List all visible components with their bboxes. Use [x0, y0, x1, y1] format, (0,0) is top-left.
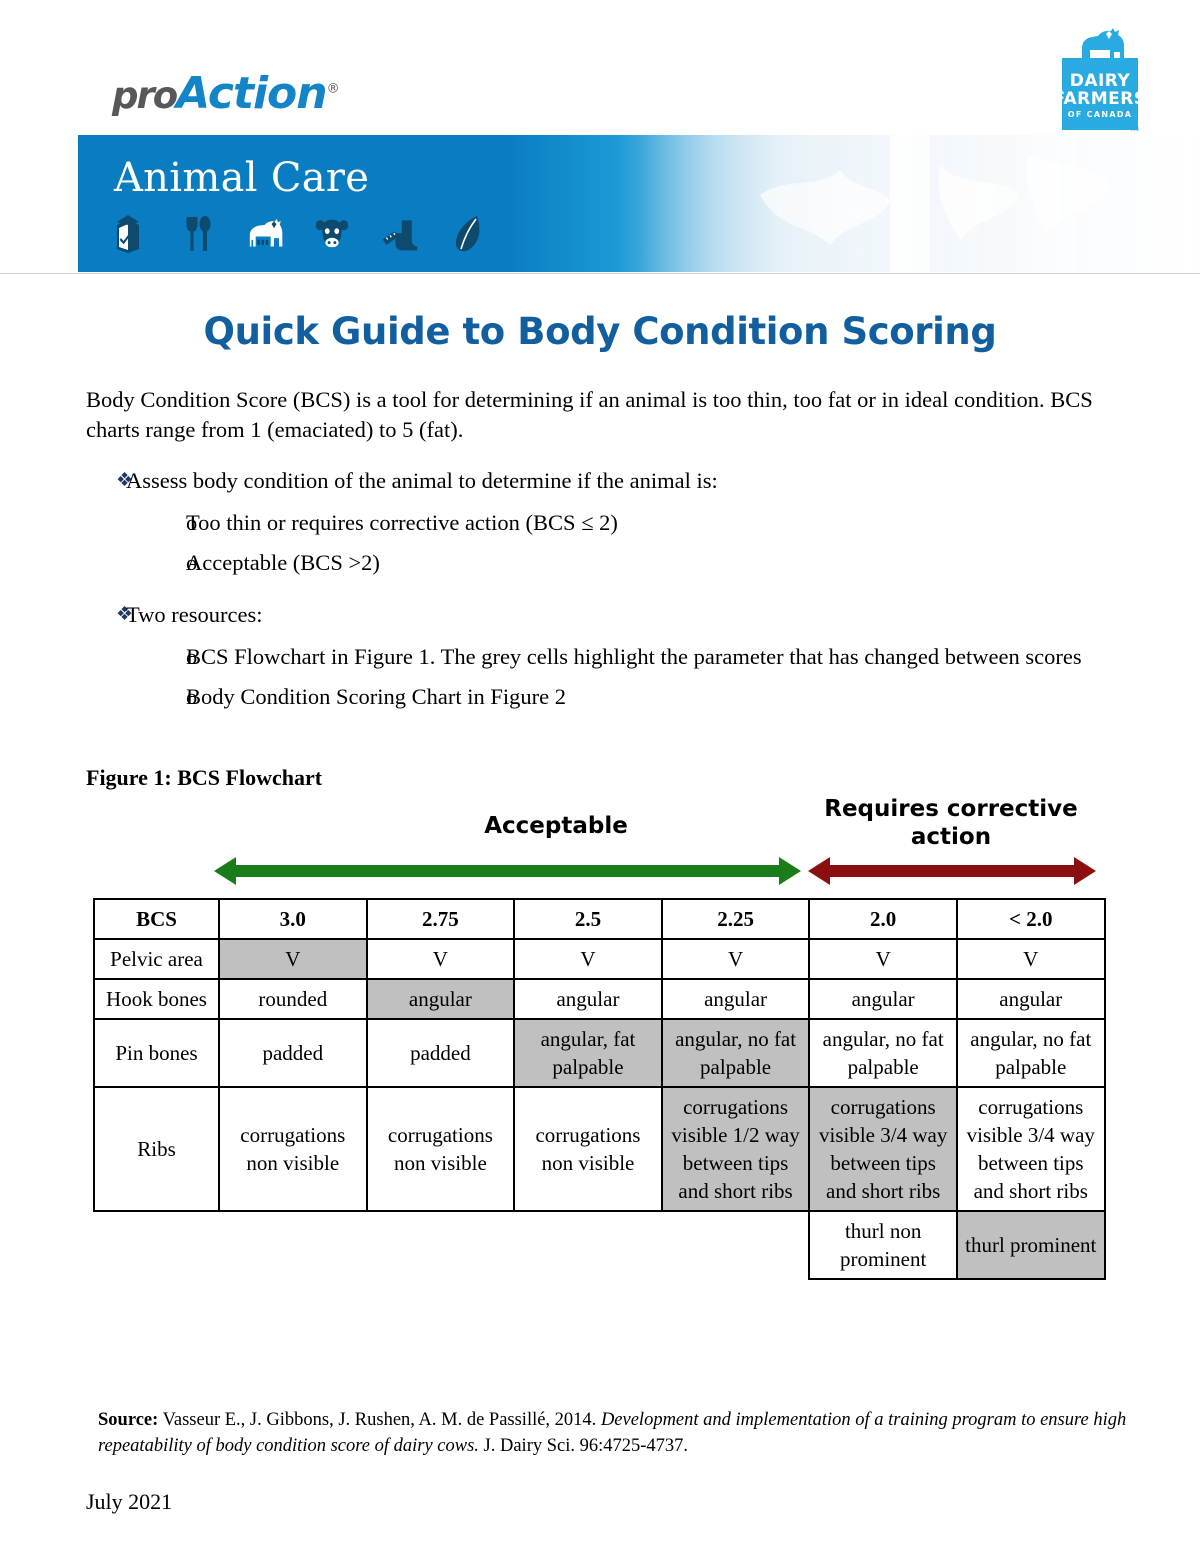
cow-head-icon [312, 213, 352, 255]
bullet-text: Two resources: [126, 599, 1126, 631]
cell-ribs-3-0: corrugations non visible [219, 1087, 367, 1211]
row-label-ribs: Ribs [94, 1087, 219, 1211]
cell-pin-3-0: padded [219, 1019, 367, 1087]
sub-bullet-text: Body Condition Scoring Chart in Figure 2 [186, 677, 1126, 717]
cell-thurl-2-25 [662, 1211, 810, 1279]
figure-1-caption: Figure 1: BCS Flowchart [86, 765, 322, 791]
cow-standing-icon [244, 213, 284, 255]
circle-bullet-icon: o [86, 637, 186, 677]
table-header-bcs: BCS [94, 899, 219, 939]
banner-title: Animal Care [114, 155, 369, 201]
bcs-flowchart-table: BCS 3.0 2.75 2.5 2.25 2.0 < 2.0 Pelvic a… [93, 898, 1106, 1280]
bullet-item-assess: ❖ Assess body condition of the animal to… [86, 465, 1126, 497]
header-divider [0, 273, 1200, 274]
intro-paragraph: Body Condition Score (BCS) is a tool for… [86, 385, 1116, 445]
cell-pin-2-0: angular, no fat palpable [809, 1019, 957, 1087]
table-header-2-75: 2.75 [367, 899, 515, 939]
bullet-text: Assess body condition of the animal to d… [126, 465, 1126, 497]
figure-1-arrow-legend: Acceptable Requires corrective action [86, 795, 1116, 880]
row-label-pin-bones: Pin bones [94, 1019, 219, 1087]
acceptable-arrow-icon [214, 857, 801, 885]
sub-bullet-too-thin: o Too thin or requires corrective action… [86, 503, 1126, 543]
dfc-line-dairy: DAIRY [1070, 72, 1131, 90]
cell-pelvic-2-25: V [662, 939, 810, 979]
table-row-hook-bones: Hook bones rounded angular angular angul… [94, 979, 1105, 1019]
table-header-2-5: 2.5 [514, 899, 662, 939]
sub-bullet-text: Too thin or requires corrective action (… [186, 503, 1126, 543]
trademark-icon: TM [1130, 127, 1139, 133]
cell-thurl-below-2-0: thurl prominent [957, 1211, 1105, 1279]
source-citation: Source: Vasseur E., J. Gibbons, J. Rushe… [98, 1407, 1138, 1459]
cell-pelvic-below-2-0: V [957, 939, 1105, 979]
diamond-bullet-icon: ❖ [86, 599, 126, 631]
cell-pin-2-75: padded [367, 1019, 515, 1087]
cell-hook-2-5: angular [514, 979, 662, 1019]
circle-bullet-icon: o [86, 543, 186, 583]
dairy-farmers-of-canada-logo: DAIRY FARMERS OF CANADA TM [1062, 28, 1138, 132]
page-title: Quick Guide to Body Condition Scoring [0, 310, 1200, 353]
sub-bullet-acceptable: o Acceptable (BCS >2) [86, 543, 1126, 583]
table-row-thurl: thurl non prominent thurl prominent [94, 1211, 1105, 1279]
cell-pelvic-3-0: V [219, 939, 367, 979]
row-label-hook-bones: Hook bones [94, 979, 219, 1019]
dfc-logo-box: DAIRY FARMERS OF CANADA TM [1062, 58, 1138, 130]
banner-icon-row [108, 213, 488, 255]
row-label-thurl-empty [94, 1211, 219, 1279]
cell-hook-2-0: angular [809, 979, 957, 1019]
cell-pelvic-2-5: V [514, 939, 662, 979]
bullet-list: ❖ Assess body condition of the animal to… [86, 465, 1126, 717]
cell-pin-2-5: angular, fat palpable [514, 1019, 662, 1087]
footer-date: July 2021 [86, 1489, 172, 1515]
cell-thurl-3-0 [219, 1211, 367, 1279]
sub-bullet-scoring-chart: o Body Condition Scoring Chart in Figure… [86, 677, 1126, 717]
cell-hook-3-0: rounded [219, 979, 367, 1019]
cell-ribs-2-0: corrugations visible 3/4 way between tip… [809, 1087, 957, 1211]
cell-thurl-2-75 [367, 1211, 515, 1279]
corrective-action-arrow-icon [808, 857, 1096, 885]
proaction-logo-action: Action [176, 68, 326, 119]
table-header-row: BCS 3.0 2.75 2.5 2.25 2.0 < 2.0 [94, 899, 1105, 939]
cell-hook-2-25: angular [662, 979, 810, 1019]
sub-bullet-text: BCS Flowchart in Figure 1. The grey cell… [186, 637, 1126, 677]
table-header-2-25: 2.25 [662, 899, 810, 939]
cell-pin-below-2-0: angular, no fat palpable [957, 1019, 1105, 1087]
cell-ribs-2-5: corrugations non visible [514, 1087, 662, 1211]
document-header: proAction® DAIRY FARMERS OF CANADA TM [0, 0, 1200, 275]
cell-thurl-2-5 [514, 1211, 662, 1279]
dfc-line-farmers: FARMERS [1053, 90, 1146, 108]
cow-silhouette-icon [1076, 28, 1128, 62]
table-row-pin-bones: Pin bones padded padded angular, fat pal… [94, 1019, 1105, 1087]
circle-bullet-icon: o [86, 503, 186, 543]
milk-carton-icon [108, 213, 148, 255]
circle-bullet-icon: o [86, 677, 186, 717]
source-journal: J. Dairy Sci. 96:4725-4737. [479, 1436, 688, 1456]
table-header-3-0: 3.0 [219, 899, 367, 939]
sub-bullet-bcs-flowchart: o BCS Flowchart in Figure 1. The grey ce… [86, 637, 1126, 677]
table-row-ribs: Ribs corrugations non visible corrugatio… [94, 1087, 1105, 1211]
diamond-bullet-icon: ❖ [86, 465, 126, 497]
legend-label-corrective-action: Requires corrective action [786, 795, 1116, 851]
cell-thurl-2-0: thurl non prominent [809, 1211, 957, 1279]
bullet-item-two-resources: ❖ Two resources: [86, 599, 1126, 631]
cell-ribs-2-75: corrugations non visible [367, 1087, 515, 1211]
proaction-logo: proAction® [112, 68, 339, 119]
cell-pelvic-2-0: V [809, 939, 957, 979]
table-header-2-0: 2.0 [809, 899, 957, 939]
cell-pin-2-25: angular, no fat palpable [662, 1019, 810, 1087]
fork-spoon-icon [176, 213, 216, 255]
cell-pelvic-2-75: V [367, 939, 515, 979]
arrow-graphics [86, 853, 1116, 893]
row-label-pelvic-area: Pelvic area [94, 939, 219, 979]
cell-hook-2-75: angular [367, 979, 515, 1019]
leaf-icon [448, 213, 488, 255]
source-authors: Vasseur E., J. Gibbons, J. Rushen, A. M.… [158, 1410, 601, 1430]
proaction-logo-pro: pro [112, 74, 176, 117]
cell-ribs-below-2-0: corrugations visible 3/4 way between tip… [957, 1087, 1105, 1211]
dfc-line-of-canada: OF CANADA [1068, 110, 1133, 119]
cell-hook-below-2-0: angular [957, 979, 1105, 1019]
animal-care-banner: Animal Care [78, 135, 1200, 272]
milk-splash-image [640, 135, 1200, 272]
table-header-below-2-0: < 2.0 [957, 899, 1105, 939]
list-spacer [86, 583, 1126, 599]
cell-ribs-2-25: corrugations visible 1/2 way between tip… [662, 1087, 810, 1211]
registered-trademark-icon: ® [327, 81, 339, 96]
boot-brush-icon [380, 213, 420, 255]
table-row-pelvic-area: Pelvic area V V V V V V [94, 939, 1105, 979]
legend-label-acceptable: Acceptable [406, 813, 706, 839]
source-label: Source: [98, 1410, 158, 1430]
sub-bullet-text: Acceptable (BCS >2) [186, 543, 1126, 583]
